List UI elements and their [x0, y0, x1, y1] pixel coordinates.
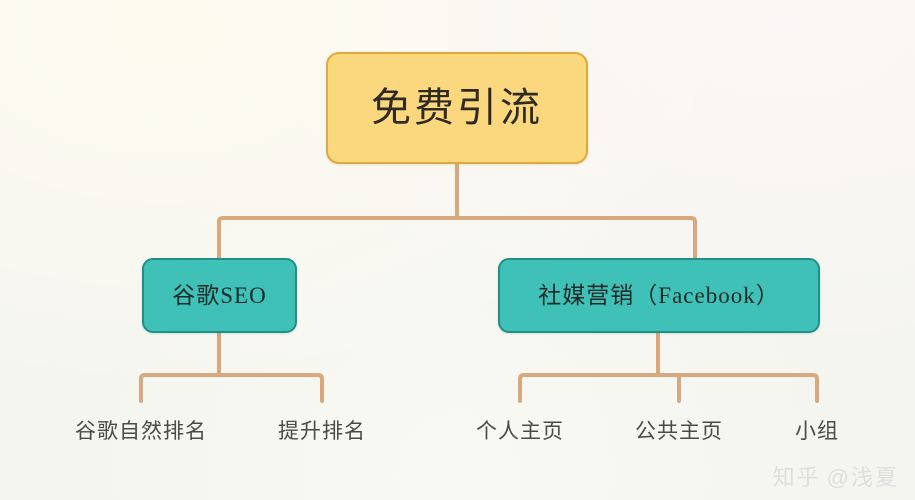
connector-main-bus — [219, 218, 695, 260]
watermark-handle: @浅夏 — [827, 465, 899, 490]
node-root[interactable]: 免费引流 — [326, 52, 588, 164]
connector-seo-bus — [141, 375, 322, 401]
node-root-label: 免费引流 — [371, 86, 543, 130]
leaf-personal-profile: 个人主页 — [476, 415, 564, 445]
node-branch-seo-label: 谷歌SEO — [172, 283, 266, 308]
leaf-google-organic-ranking: 谷歌自然排名 — [75, 415, 207, 445]
leaf-group: 小组 — [795, 415, 839, 445]
leaf-public-page: 公共主页 — [635, 415, 723, 445]
node-branch-social-media-label: 社媒营销（Facebook） — [538, 283, 779, 308]
connector-smm-bus — [520, 375, 817, 401]
diagram-canvas: 免费引流 谷歌SEO 社媒营销（Facebook） 谷歌自然排名 提升排名 个人… — [0, 0, 915, 500]
leaf-improve-ranking: 提升排名 — [278, 415, 366, 445]
watermark-logo: 知乎 — [773, 465, 821, 490]
watermark: 知乎@浅夏 — [773, 460, 899, 492]
node-branch-seo[interactable]: 谷歌SEO — [142, 258, 297, 333]
node-branch-social-media[interactable]: 社媒营销（Facebook） — [498, 258, 820, 333]
